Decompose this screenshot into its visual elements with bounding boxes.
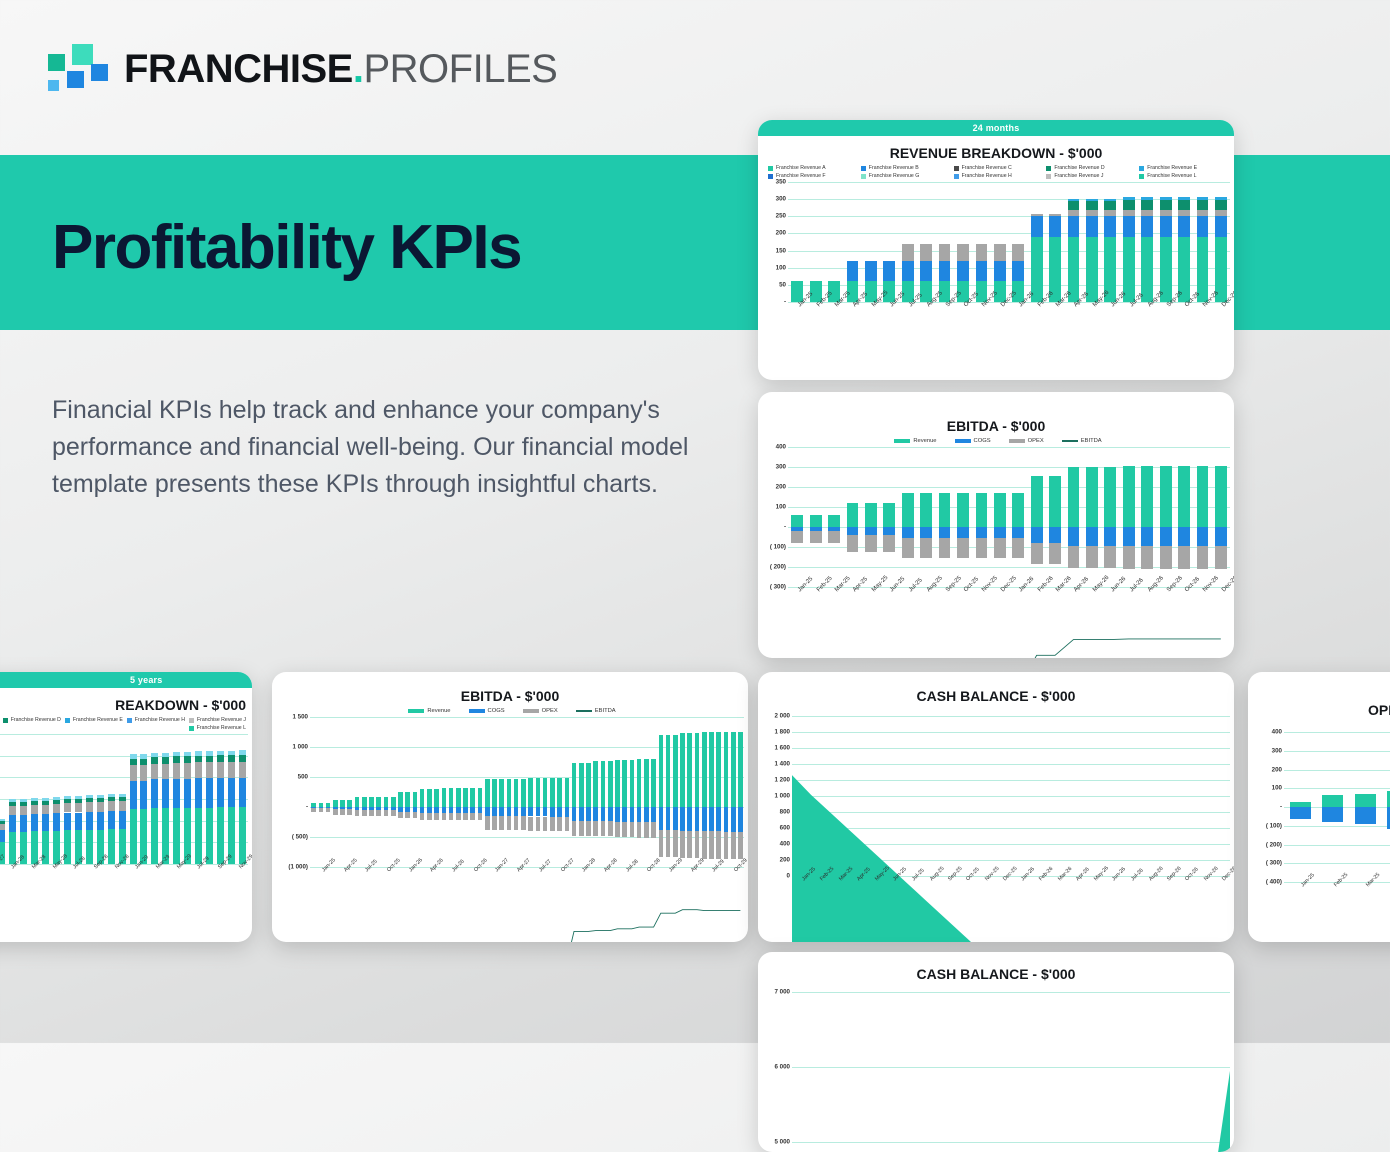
bar-segment [151, 764, 158, 780]
bar-segment [162, 757, 169, 764]
y-tick-label: 250 [776, 213, 786, 220]
chart-plot-area: 400300200100-( 100)( 200)( 300) [758, 447, 1234, 587]
bar-segment [97, 812, 104, 830]
bar-segment [206, 778, 213, 807]
bar-column [806, 182, 824, 302]
bar-column [1120, 182, 1138, 302]
bar-segment [130, 754, 137, 758]
chart-legend: RevenueCOGSOPEXEBITDA [758, 438, 1234, 447]
bar-segment [1215, 210, 1227, 216]
logo-mark-icon [48, 44, 110, 94]
y-tick-label: 200 [1272, 766, 1282, 773]
legend-item: Franchise Revenue A [764, 165, 857, 171]
bar-segment [162, 764, 169, 780]
y-tick-label: - [306, 804, 308, 811]
y-tick-label: - [1280, 804, 1282, 811]
bar-segment [173, 756, 180, 763]
bar-segment [239, 762, 246, 778]
legend-item: OPEX [519, 708, 558, 714]
bar-segment [239, 750, 246, 755]
x-axis: Jan-27Mar-27May-27Jul-27Sep-27Nov-27Jan-… [0, 864, 248, 898]
bar-segment [1160, 216, 1172, 237]
bar-column [1175, 182, 1193, 302]
legend-swatch-icon [954, 166, 959, 171]
y-tick-label: ( 200) [770, 564, 786, 571]
y-tick-label: 500 [298, 774, 308, 781]
chart-plot-area: 400300200100-( 100)( 200)( 300)( 400) [1248, 732, 1390, 882]
bar-segment [31, 798, 38, 801]
legend-swatch-icon [189, 726, 194, 731]
legend-item: Franchise Revenue J [185, 717, 246, 723]
bar-segment [1322, 807, 1343, 822]
bar-segment [162, 779, 169, 808]
legend-swatch-icon [576, 710, 592, 712]
bar-segment [42, 805, 49, 814]
bar-column [1193, 182, 1211, 302]
legend-swatch-icon [861, 174, 866, 179]
bar-segment [1178, 216, 1190, 237]
x-axis: Jan-25Feb-25Mar-25Apr-25May-25Jun-25Jul-… [788, 302, 1230, 336]
legend-swatch-icon [894, 439, 910, 443]
ebitda-line [788, 447, 1230, 658]
bar-segment [108, 797, 115, 801]
bar-column [1284, 732, 1317, 882]
intro-paragraph: Financial KPIs help track and enhance yo… [52, 392, 712, 503]
bar-segment [217, 778, 224, 807]
bar-column [954, 182, 972, 302]
bar-segment [1086, 216, 1098, 237]
bar-segment [1355, 807, 1376, 824]
y-tick-label: 800 [780, 809, 790, 816]
bar-segment [1141, 210, 1153, 216]
legend-item: Franchise Revenue L [1135, 173, 1228, 179]
card-cash-balance-5years[interactable]: CASH BALANCE - $'000 7 0006 0005 000 [758, 952, 1234, 1152]
legend-item: Revenue [404, 708, 450, 714]
y-tick-label: ( 100) [770, 544, 786, 551]
chart-title: EBITDA - $'000 [758, 392, 1234, 438]
bar-column [193, 734, 204, 864]
legend-label: COGS [488, 708, 505, 714]
bar-column [1064, 182, 1082, 302]
legend-swatch-icon [1139, 174, 1144, 179]
bar-segment [97, 795, 104, 798]
bar-segment [1086, 199, 1098, 201]
bar-column [843, 182, 861, 302]
legend-swatch-icon [861, 166, 866, 171]
bar-column [1382, 732, 1390, 882]
bar-column [0, 734, 7, 864]
y-tick-label: 1 800 [775, 729, 790, 736]
bar-series [1284, 732, 1390, 882]
bar-segment [939, 244, 951, 261]
bar-column [204, 734, 215, 864]
legend-swatch-icon [955, 439, 971, 443]
bar-segment [1355, 794, 1376, 807]
bar-column [7, 734, 18, 864]
bar-segment [0, 819, 5, 821]
brand-name-dot: . [353, 47, 364, 91]
y-tick-label: 600 [780, 825, 790, 832]
y-tick-label: 1 500 [293, 714, 308, 721]
bar-segment [86, 812, 93, 830]
y-tick-label: 2 000 [775, 713, 790, 720]
y-tick-label: 200 [776, 484, 786, 491]
brand-logo: FRANCHISE.PROFILES [48, 44, 557, 94]
bar-column [160, 734, 171, 864]
bar-segment [1104, 216, 1116, 237]
bar-segment [1031, 216, 1043, 237]
bar-segment [42, 798, 49, 801]
y-tick-label: 300 [776, 464, 786, 471]
bar-segment [195, 756, 202, 763]
bar-segment [9, 806, 16, 815]
bar-segment [1141, 200, 1153, 210]
bar-segment [1322, 795, 1343, 807]
bar-column [95, 734, 106, 864]
bar-column [149, 734, 160, 864]
bar-segment [75, 813, 82, 831]
y-tick-label: ( 200) [1266, 841, 1282, 848]
y-tick-label: ( 300) [1266, 860, 1282, 867]
bar-segment [228, 751, 235, 756]
bar-segment [206, 762, 213, 778]
card-cash-balance-24months[interactable]: CASH BALANCE - $'000 2 0001 8001 6001 40… [758, 672, 1234, 942]
bar-segment [108, 801, 115, 811]
legend-item: Franchise Revenue J [1042, 173, 1135, 179]
bar-segment [1068, 201, 1080, 211]
legend-label: Franchise Revenue C [962, 165, 1012, 171]
bar-segment [42, 801, 49, 805]
legend-item: EBITDA [1058, 438, 1102, 444]
card-opex[interactable]: OPE 400300200100-( 100)( 200)( 300)( 400… [1248, 672, 1390, 942]
bar-segment [31, 805, 38, 814]
y-tick-label: - [784, 299, 786, 306]
bar-segment [75, 803, 82, 812]
bar-segment [1012, 244, 1024, 261]
bar-segment [173, 779, 180, 808]
bar-segment [939, 261, 951, 281]
bar-segment [130, 759, 137, 766]
y-tick-label: 300 [776, 196, 786, 203]
bar-segment [228, 755, 235, 762]
bar-segment [75, 796, 82, 799]
bar-segment [53, 797, 60, 800]
ebitda-line [310, 717, 744, 942]
bar-segment [173, 763, 180, 779]
bar-segment [994, 244, 1006, 261]
bar-segment [1141, 197, 1153, 200]
legend-label: Franchise Revenue B [869, 165, 919, 171]
bar-segment [902, 261, 914, 281]
legend-label: Franchise Revenue D [11, 717, 61, 723]
bar-segment [1123, 210, 1135, 216]
y-tick-label: 350 [776, 179, 786, 186]
legend-item: OPEX [1005, 438, 1044, 444]
bar-segment [20, 799, 27, 802]
bar-segment [1141, 237, 1153, 302]
bar-segment [184, 752, 191, 756]
bar-segment [957, 261, 969, 281]
bar-segment [184, 779, 191, 808]
legend-label: COGS [974, 438, 991, 444]
bar-segment [1104, 201, 1116, 211]
bar-column [1101, 182, 1119, 302]
bar-column [862, 182, 880, 302]
bar-segment [1160, 210, 1172, 216]
y-tick-label: 5 000 [775, 1139, 790, 1146]
y-tick-label: 1 000 [293, 744, 308, 751]
bar-segment [97, 802, 104, 812]
bar-segment [173, 752, 180, 756]
bar-column [51, 734, 62, 864]
bar-column [237, 734, 248, 864]
bar-column [40, 734, 51, 864]
bar-segment [140, 781, 147, 809]
bar-segment [31, 801, 38, 805]
bar-segment [976, 261, 988, 281]
x-axis: Jan-25Apr-25Jul-25Oct-25Jan-26Apr-26Jul-… [310, 867, 744, 901]
legend-swatch-icon [1062, 440, 1078, 442]
brand-name-bold: FRANCHISE [124, 47, 353, 91]
bar-segment [173, 808, 180, 864]
legend-item: Franchise Revenue H [950, 173, 1043, 179]
bar-segment [130, 809, 137, 864]
bar-segment [1068, 210, 1080, 216]
bar-column [117, 734, 128, 864]
x-axis: Jan-25Feb-25Mar-25Apr-25May-25Jun-25Jul-… [788, 587, 1230, 621]
bar-segment [1215, 197, 1227, 200]
bar-segment [119, 801, 126, 811]
bar-segment [184, 763, 191, 779]
legend-swatch-icon [1046, 166, 1051, 171]
bar-segment [86, 802, 93, 812]
bar-column [29, 734, 40, 864]
bar-column [1027, 182, 1045, 302]
legend-label: Franchise Revenue J [197, 717, 246, 723]
y-axis: 35030025020015010050- [758, 182, 788, 302]
legend-item: Franchise Revenue B [857, 165, 950, 171]
bar-segment [239, 807, 246, 864]
bar-segment [957, 244, 969, 261]
legend-label: OPEX [542, 708, 558, 714]
y-axis: 7 0006 0005 000 [758, 992, 792, 1142]
x-axis: Jan-25Feb-25Mar-25Apr-25May-25Jun-25Jul-… [792, 876, 1230, 910]
card-band-label: 24 months [758, 120, 1234, 136]
brand-name-thin: PROFILES [363, 47, 557, 91]
legend-label: Franchise Revenue H [962, 173, 1012, 179]
legend-label: Franchise Revenue E [1147, 165, 1197, 171]
bar-segment [1123, 216, 1135, 237]
bar-segment [0, 824, 5, 830]
bar-segment [64, 799, 71, 803]
y-tick-label: 150 [776, 247, 786, 254]
bar-segment [994, 261, 1006, 281]
legend-label: Franchise Revenue E [73, 717, 123, 723]
legend-item: COGS [951, 438, 991, 444]
legend-label: Franchise Revenue A [776, 165, 826, 171]
legend-swatch-icon [189, 718, 194, 723]
bar-segment [53, 813, 60, 830]
legend-label: Franchise Revenue G [869, 173, 919, 179]
y-tick-label: 1 000 [775, 793, 790, 800]
bar-segment [162, 753, 169, 757]
bar-column [73, 734, 84, 864]
bar-segment [9, 815, 16, 832]
page-title: Profitability KPIs [52, 212, 521, 283]
bar-segment [217, 755, 224, 762]
bar-segment [151, 808, 158, 864]
y-tick-label: 100 [776, 264, 786, 271]
bar-segment [1012, 261, 1024, 281]
bar-segment [1160, 200, 1172, 210]
bar-segment [42, 814, 49, 831]
y-tick-label: 200 [776, 230, 786, 237]
bar-segment [1215, 216, 1227, 237]
chart-legend: Franchise Revenue AFranchise Revenue BFr… [758, 165, 1234, 182]
legend-label: Franchise Revenue J [1054, 173, 1103, 179]
legend-item: Franchise Revenue D [0, 717, 61, 723]
y-tick-label: 400 [776, 444, 786, 451]
bar-segment [1104, 199, 1116, 201]
bar-column [1212, 182, 1230, 302]
card-revenue-breakdown-5years[interactable]: 5 years REAKDOWN - $'000 Franchise Reven… [0, 672, 252, 942]
y-tick-label: 300 [1272, 747, 1282, 754]
y-tick-label: 6 000 [775, 1064, 790, 1071]
bar-segment [130, 765, 137, 780]
bar-segment [1068, 216, 1080, 237]
bar-segment [1104, 210, 1116, 216]
bar-column [1156, 182, 1174, 302]
legend-label: Revenue [427, 708, 450, 714]
bar-segment [1123, 197, 1135, 200]
legend-item: Franchise Revenue H [123, 717, 185, 723]
legend-swatch-icon [768, 174, 773, 179]
chart-title: REAKDOWN - $'000 [0, 688, 252, 717]
y-tick-label: 7 000 [775, 989, 790, 996]
bar-segment [195, 751, 202, 756]
y-tick-label: 400 [780, 841, 790, 848]
card-ebitda-5years[interactable]: EBITDA - $'000 RevenueCOGSOPEXEBITDA 1 5… [272, 672, 748, 942]
legend-item: Franchise Revenue E [1135, 165, 1228, 171]
chart-plot-area: 2 0001 8001 6001 4001 2001 0008006004002… [758, 716, 1234, 876]
y-axis: 400300200100-( 100)( 200)( 300)( 400) [1248, 732, 1284, 882]
y-tick-label: ( 300) [770, 584, 786, 591]
bar-segment [195, 808, 202, 864]
bar-column [788, 182, 806, 302]
bar-segment [97, 798, 104, 802]
bar-segment [1068, 199, 1080, 201]
x-axis: Jan-25Feb-25Mar-25Apr-25May-25Jun-25Jul-… [1284, 882, 1390, 916]
bar-column [899, 182, 917, 302]
card-ebitda-24months[interactable]: EBITDA - $'000 RevenueCOGSOPEXEBITDA 400… [758, 392, 1234, 658]
legend-item: EBITDA [572, 708, 616, 714]
bar-column [128, 734, 139, 864]
bar-segment [217, 807, 224, 864]
legend-item: Franchise Revenue D [1042, 165, 1135, 171]
card-revenue-breakdown-24months[interactable]: 24 months REVENUE BREAKDOWN - $'000 Fran… [758, 120, 1234, 380]
chart-title: OPE [1248, 672, 1390, 722]
legend-label: EBITDA [595, 708, 616, 714]
bar-segment [119, 797, 126, 801]
bar-segment [0, 830, 5, 842]
bar-segment [1197, 216, 1209, 237]
bar-segment [151, 753, 158, 757]
bar-segment [130, 781, 137, 809]
bar-segment [1290, 807, 1311, 819]
chart-title: EBITDA - $'000 [272, 672, 748, 708]
bar-column [991, 182, 1009, 302]
bar-segment [1178, 200, 1190, 210]
y-tick-label: 200 [780, 857, 790, 864]
area-series [792, 992, 1230, 1152]
bar-segment [20, 802, 27, 806]
y-tick-label: - [784, 524, 786, 531]
legend-label: EBITDA [1081, 438, 1102, 444]
y-tick-label: ( 500) [292, 834, 308, 841]
chart-legend: RevenueCOGSOPEXEBITDA [272, 708, 748, 717]
bar-column [139, 734, 150, 864]
y-axis: 2 0001 8001 6001 4001 2001 0008006004002… [758, 716, 792, 876]
chart-plot-area: 35030025020015010050- [758, 182, 1234, 302]
legend-swatch-icon [469, 709, 485, 713]
bar-segment [206, 756, 213, 763]
bar-segment [1031, 214, 1043, 217]
bar-segment [9, 802, 16, 806]
bar-segment [206, 751, 213, 756]
bar-segment [1197, 197, 1209, 200]
y-axis: 1 5001 000500-( 500)(1 000) [272, 717, 310, 867]
bar-column [171, 734, 182, 864]
bar-segment [1049, 216, 1061, 237]
bar-segment [865, 261, 877, 281]
legend-label: OPEX [1028, 438, 1044, 444]
bar-column [62, 734, 73, 864]
bar-segment [108, 794, 115, 797]
chart-title: REVENUE BREAKDOWN - $'000 [758, 136, 1234, 165]
legend-swatch-icon [408, 709, 424, 713]
bar-column [972, 182, 990, 302]
bar-segment [119, 811, 126, 829]
legend-item: Franchise Revenue E [61, 717, 123, 723]
legend-item: COGS [465, 708, 505, 714]
bar-segment [140, 759, 147, 766]
chart-title: CASH BALANCE - $'000 [758, 672, 1234, 708]
y-axis: 400300200100-( 100)( 200)( 300) [758, 447, 788, 587]
y-tick-label: (1 000) [288, 864, 308, 871]
bar-segment [140, 754, 147, 758]
bar-segment [1086, 201, 1098, 211]
bar-segment [108, 811, 115, 829]
chart-title: CASH BALANCE - $'000 [758, 952, 1234, 986]
chart-plot-area [0, 734, 252, 864]
bar-segment [239, 755, 246, 762]
legend-label: Franchise Revenue L [197, 725, 246, 731]
bar-segment [228, 778, 235, 807]
y-tick-label: 100 [1272, 785, 1282, 792]
bar-segment [902, 244, 914, 261]
bar-column [226, 734, 237, 864]
bar-column [182, 734, 193, 864]
legend-item: Franchise Revenue C [950, 165, 1043, 171]
y-tick-label: 1 600 [775, 745, 790, 752]
legend-swatch-icon [954, 174, 959, 179]
bar-segment [86, 830, 93, 864]
legend-swatch-icon [3, 718, 8, 723]
bar-segment [195, 762, 202, 778]
bar-column [106, 734, 117, 864]
y-tick-label: 400 [1272, 729, 1282, 736]
bar-column [1138, 182, 1156, 302]
